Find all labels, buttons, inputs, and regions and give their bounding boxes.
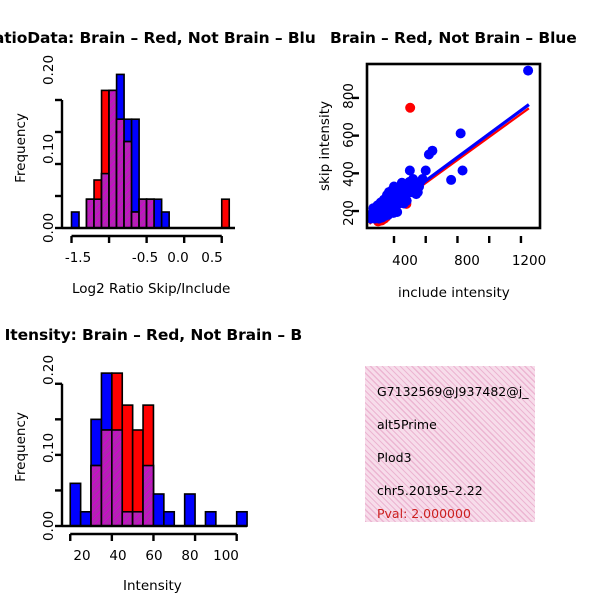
histogram-bin (87, 199, 95, 228)
scatter-point-not-brain (405, 166, 415, 176)
histogram-bin (112, 373, 122, 526)
histogram-bin (185, 494, 195, 526)
bar-not-brain (153, 494, 163, 526)
histogram-bin (154, 199, 162, 228)
scatter-point-not-brain (446, 175, 456, 185)
histogram-bin (72, 212, 80, 228)
histogram-bin (91, 419, 101, 526)
histogram-bin (237, 512, 247, 526)
info-line-id: G7132569@J937482@j_ (377, 384, 528, 399)
histogram-bin (132, 119, 140, 228)
bar-overlap (139, 199, 147, 228)
histogram-bin (153, 494, 163, 526)
bar-overlap (102, 174, 110, 228)
histogram-bin (162, 212, 170, 228)
bar-overlap (122, 512, 132, 526)
bar-not-brain (205, 512, 215, 526)
scatter-point-not-brain (424, 149, 434, 159)
histogram-bin (143, 405, 153, 526)
intensity-scatter-plot (300, 0, 600, 300)
info-line-gene: Plod3 (377, 450, 412, 465)
bar-not-brain (237, 512, 247, 526)
bar-brain (222, 199, 230, 228)
bar-overlap (109, 90, 117, 228)
bar-overlap (87, 199, 95, 228)
bar-overlap (91, 466, 101, 526)
bar-overlap (132, 212, 140, 228)
bar-not-brain (185, 494, 195, 526)
info-line-event: alt5Prime (377, 417, 437, 432)
bar-not-brain (164, 512, 174, 526)
gene-intensity-histogram-plot (0, 300, 300, 600)
histogram-bin (222, 199, 230, 228)
bar-overlap (124, 142, 132, 228)
histogram-bin (124, 119, 132, 228)
bar-not-brain (70, 483, 80, 526)
histogram-bin (109, 90, 117, 228)
bar-overlap (133, 512, 143, 526)
bar-overlap (147, 199, 155, 228)
bar-not-brain (81, 512, 91, 526)
bar-overlap (117, 119, 125, 228)
histogram-bin (122, 405, 132, 526)
histogram-bin (139, 199, 147, 228)
histogram-bin (94, 180, 102, 228)
histogram-bin (101, 373, 111, 526)
bar-overlap (94, 199, 102, 228)
bar-overlap (101, 430, 111, 526)
histogram-bin (81, 512, 91, 526)
scatter-point-not-brain (523, 66, 533, 76)
bar-not-brain (72, 212, 80, 228)
fit-line-not-brain (369, 105, 529, 223)
histogram-bin (70, 483, 80, 526)
ratio-histogram-plot (0, 0, 300, 300)
histogram-bin (147, 199, 155, 228)
histogram-bin (117, 74, 125, 228)
scatter-point-not-brain (456, 128, 466, 138)
bar-not-brain (162, 212, 170, 228)
bar-not-brain (154, 199, 162, 228)
histogram-bin (133, 430, 143, 526)
scatter-content (365, 66, 533, 227)
histogram-bin (164, 512, 174, 526)
gene-info-panel: G7132569@J937482@j_ alt5Prime Plod3 chr5… (365, 366, 535, 522)
scatter-point-brain (405, 103, 415, 113)
histogram-bin (102, 90, 110, 228)
scatter-point-not-brain (458, 166, 468, 176)
info-line-pval: Pval: 2.000000 (377, 506, 471, 521)
bar-brain (122, 405, 132, 526)
histogram-bin (205, 512, 215, 526)
info-line-locus: chr5.20195–2.22 (377, 483, 483, 498)
bar-overlap (112, 430, 122, 526)
bar-overlap (143, 466, 153, 526)
